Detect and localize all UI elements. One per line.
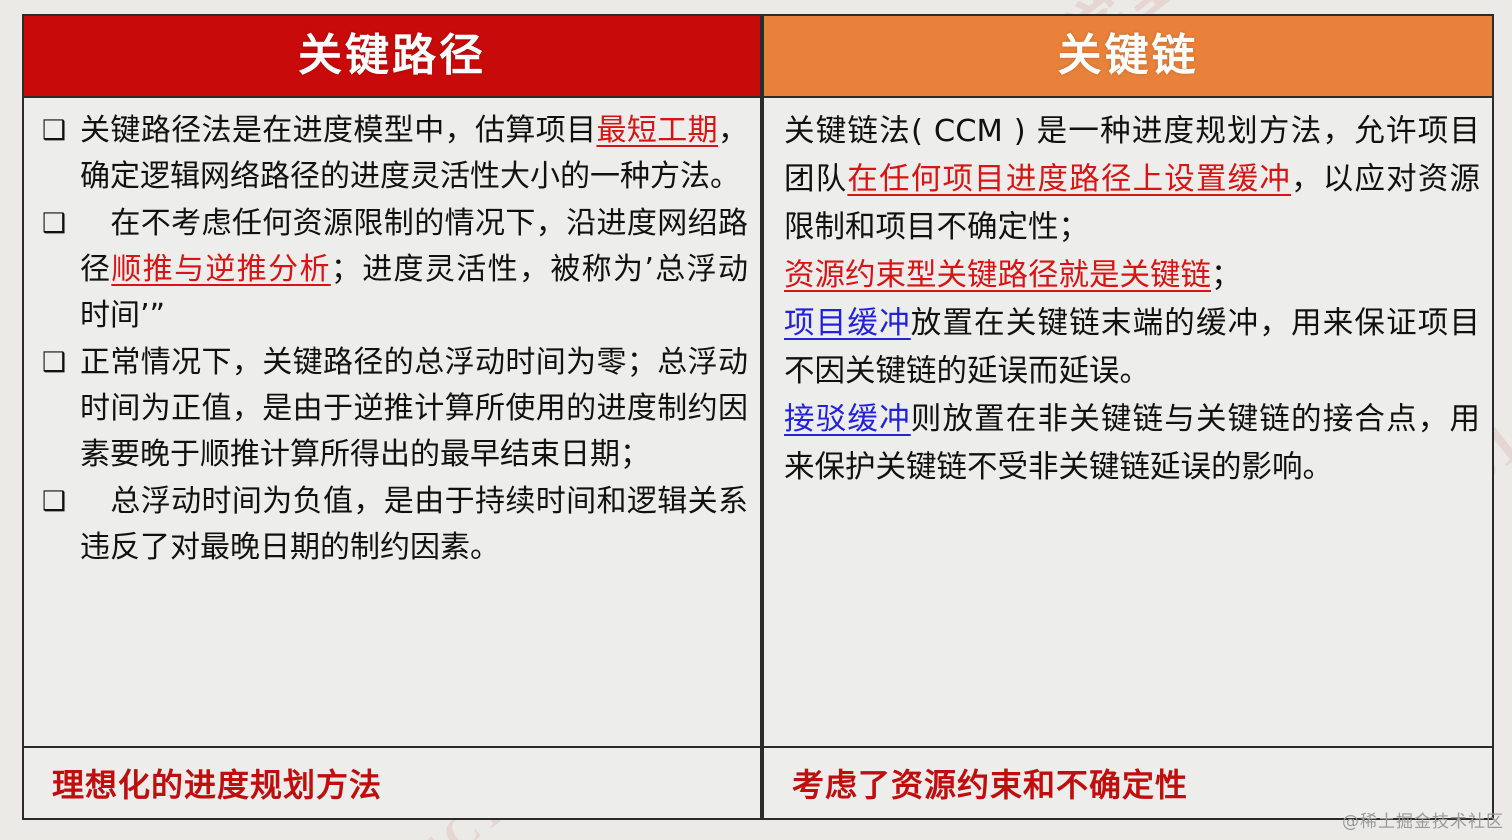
footer-cell-critical-path: 理想化的进度规划方法 <box>22 748 762 820</box>
footer-text-critical-chain: 考虑了资源约束和不确定性 <box>792 760 1188 806</box>
highlighted-text-span: 最短工期 <box>596 113 718 148</box>
column-title-critical-chain: 关键链 <box>764 16 1492 96</box>
paragraph: 资源约束型关键路径就是关键链； <box>784 252 1480 300</box>
critical-path-bullet-list: ❑关键路径法是在进度模型中，估算项目最短工期，确定逻辑网络路径的进度灵活性大小的… <box>38 108 748 571</box>
body-cell-critical-chain: 关键链法( CCM ) 是一种进度规划方法，允许项目团队在任何项目进度路径上设置… <box>762 98 1494 748</box>
table-body-row: ❑关键路径法是在进度模型中，估算项目最短工期，确定逻辑网络路径的进度灵活性大小的… <box>22 98 1494 748</box>
paragraph: 关键链法( CCM ) 是一种进度规划方法，允许项目团队在任何项目进度路径上设置… <box>784 108 1480 252</box>
paragraph: 项目缓冲放置在关键链末端的缓冲，用来保证项目不因关键链的延误而延误。 <box>784 300 1480 396</box>
square-bullet-icon: ❑ <box>38 479 80 525</box>
footer-text-critical-path: 理想化的进度规划方法 <box>52 760 382 806</box>
list-item: ❑ 在不考虑任何资源限制的情况下，沿进度网绍路径顺推与逆推分析；进度灵活性，被称… <box>38 201 748 339</box>
highlighted-text-span: 顺推与逆推分析 <box>111 252 330 287</box>
list-item-text: 关键路径法是在进度模型中，估算项目最短工期，确定逻辑网络路径的进度灵活性大小的一… <box>80 108 748 200</box>
column-title-critical-path: 关键路径 <box>24 16 760 96</box>
highlighted-text-span: 资源约束型关键路径就是关键链 <box>784 258 1211 293</box>
list-item-text: 总浮动时间为负值，是由于持续时间和逻辑关系违反了对最晚日期的制约因素。 <box>80 479 748 571</box>
square-bullet-icon: ❑ <box>38 201 80 247</box>
table-header-row: 关键路径 关键链 <box>22 14 1494 98</box>
comparison-table: 关键路径 关键链 ❑关键路径法是在进度模型中，估算项目最短工期，确定逻辑网络路径… <box>22 14 1494 820</box>
highlighted-text-span: 在任何项目进度路径上设置缓冲 <box>847 162 1291 197</box>
text-span: ； <box>1211 258 1242 293</box>
text-span: 关键路径法是在进度模型中，估算项目 <box>80 113 596 148</box>
list-item-text: 在不考虑任何资源限制的情况下，沿进度网绍路径顺推与逆推分析；进度灵活性，被称为’… <box>80 201 748 339</box>
square-bullet-icon: ❑ <box>38 108 80 154</box>
text-span: 总浮动时间为负值，是由于持续时间和逻辑关系违反了对最晚日期的制约因素。 <box>80 484 748 565</box>
header-cell-critical-path: 关键路径 <box>22 14 762 98</box>
paragraph: 接驳缓冲则放置在非关键链与关键链的接合点，用来保护关键链不受非关键链延误的影响。 <box>784 396 1480 492</box>
table-footer-row: 理想化的进度规划方法 考虑了资源约束和不确定性 <box>22 748 1494 820</box>
highlighted-text-span: 接驳缓冲 <box>784 402 911 437</box>
list-item: ❑ 总浮动时间为负值，是由于持续时间和逻辑关系违反了对最晚日期的制约因素。 <box>38 479 748 571</box>
text-span: 正常情况下，关键路径的总浮动时间为零；总浮动时间为正值，是由于逆推计算所使用的进… <box>80 345 748 472</box>
list-item: ❑关键路径法是在进度模型中，估算项目最短工期，确定逻辑网络路径的进度灵活性大小的… <box>38 108 748 200</box>
list-item-text: 正常情况下，关键路径的总浮动时间为零；总浮动时间为正值，是由于逆推计算所使用的进… <box>80 340 748 478</box>
header-cell-critical-chain: 关键链 <box>762 14 1494 98</box>
list-item: ❑正常情况下，关键路径的总浮动时间为零；总浮动时间为正值，是由于逆推计算所使用的… <box>38 340 748 478</box>
highlighted-text-span: 项目缓冲 <box>784 306 911 341</box>
square-bullet-icon: ❑ <box>38 340 80 386</box>
critical-chain-paragraphs: 关键链法( CCM ) 是一种进度规划方法，允许项目团队在任何项目进度路径上设置… <box>784 108 1480 492</box>
source-credit-watermark: @稀土掘金技术社区 <box>1342 807 1504 832</box>
body-cell-critical-path: ❑关键路径法是在进度模型中，估算项目最短工期，确定逻辑网络路径的进度灵活性大小的… <box>22 98 762 748</box>
